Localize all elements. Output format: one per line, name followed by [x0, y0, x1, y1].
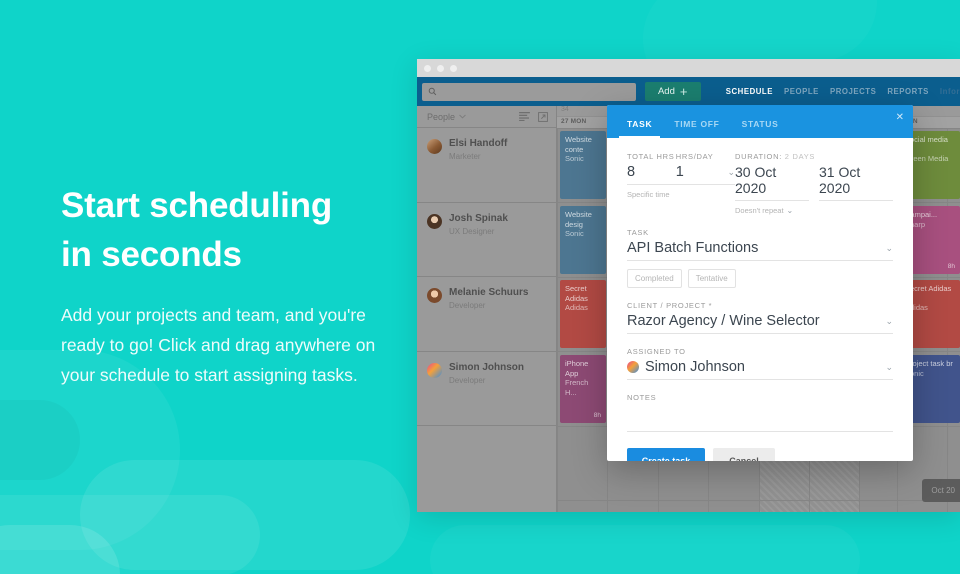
add-button-label: Add — [658, 86, 675, 97]
hours-per-day-label: HRS/DAY — [676, 152, 735, 161]
people-panel-tools — [519, 112, 548, 122]
end-date-field[interactable]: 31 Oct 2020 — [819, 164, 893, 201]
task-card[interactable]: iPhone App French H... 8h — [560, 355, 606, 423]
people-panel-header: People — [417, 106, 556, 128]
cancel-button[interactable]: Cancel — [713, 448, 775, 461]
duration-days-value: 2 DAYS — [785, 152, 815, 161]
chevron-down-icon: ⌄ — [787, 207, 794, 215]
search-input[interactable] — [422, 83, 636, 101]
window-titlebar — [417, 59, 960, 77]
list-item-empty[interactable] — [417, 426, 556, 500]
hours-duration-row: TOTAL HRS 8 Specific time HRS/DAY 1 ⌄ DU… — [627, 152, 893, 215]
assigned-to-field[interactable]: ASSIGNED TO Simon Johnson ⌄ — [627, 347, 893, 380]
nav-item-projects[interactable]: PROJECTS — [830, 87, 876, 96]
modal-tabs: TASK TIME OFF STATUS — [607, 105, 913, 138]
page-title-line-1: Start scheduling — [61, 186, 332, 225]
hours-per-day-field[interactable]: HRS/DAY 1 ⌄ — [676, 152, 735, 185]
repeat-label: Doesn't repeat — [735, 206, 784, 215]
minimize-window-dot[interactable] — [437, 65, 444, 72]
task-value[interactable]: API Batch Functions ⌄ — [627, 240, 893, 261]
assigned-to-text: Simon Johnson — [645, 359, 745, 375]
task-card-hours: 8h — [948, 262, 955, 272]
specific-time-link[interactable]: Specific time — [627, 190, 676, 199]
avatar — [427, 288, 442, 303]
person-role: Developer — [449, 301, 528, 311]
client-project-value[interactable]: Razor Agency / Wine Selector ⌄ — [627, 313, 893, 334]
month-jump-button[interactable]: Oct 20 — [922, 479, 960, 502]
avatar — [427, 363, 442, 378]
list-item[interactable]: Melanie Schuurs Developer — [417, 277, 556, 352]
task-card-client: Sonic — [565, 229, 601, 239]
task-card-client: French H... — [565, 378, 601, 397]
modal-actions: Create task Cancel — [627, 448, 893, 461]
page-title-line-2: in seconds — [61, 235, 242, 274]
total-hours-label: TOTAL HRS — [627, 152, 676, 161]
person-role: Marketer — [449, 152, 507, 162]
assigned-to-value[interactable]: Simon Johnson ⌄ — [627, 359, 893, 380]
list-item[interactable]: Josh Spinak UX Designer — [417, 203, 556, 278]
date-range: 30 Oct 2020 31 Oct 2020 — [735, 164, 893, 201]
avatar — [627, 361, 639, 373]
chevron-down-icon — [459, 114, 466, 119]
task-field[interactable]: TASK API Batch Functions ⌄ Completed Ten… — [627, 228, 893, 288]
task-card[interactable]: Website desig Sonic — [560, 206, 606, 274]
nav-item-people[interactable]: PEOPLE — [784, 87, 819, 96]
tab-task[interactable]: TASK — [627, 119, 652, 138]
task-card-title: iPhone App — [565, 359, 601, 378]
list-item[interactable]: Simon Johnson Developer — [417, 352, 556, 427]
plus-icon: + — [680, 85, 688, 98]
page-subtitle: Add your projects and team, and you're r… — [61, 300, 391, 390]
duration-label: DURATION: 2 DAYS — [735, 152, 893, 161]
notes-field[interactable]: NOTES — [627, 393, 893, 432]
nav-item-reports[interactable]: REPORTS — [887, 87, 929, 96]
page-title: Start scheduling in seconds — [61, 181, 391, 279]
task-card[interactable]: Secret Adidas Adidas — [560, 280, 606, 348]
tab-status[interactable]: STATUS — [742, 119, 779, 138]
task-card-title: Secret Adidas — [565, 284, 601, 303]
person-name: Josh Spinak — [449, 213, 508, 225]
task-card-client: Sonic — [565, 154, 601, 164]
maximize-window-dot[interactable] — [450, 65, 457, 72]
start-date-field[interactable]: 30 Oct 2020 — [735, 164, 809, 201]
list-view-icon[interactable] — [519, 112, 530, 121]
search-icon — [428, 87, 437, 96]
modal-header: TASK TIME OFF STATUS ✕ — [607, 105, 913, 138]
people-filter-label: People — [427, 112, 455, 122]
specific-time-label: Specific time — [627, 190, 670, 199]
total-hours-text: 8 — [627, 164, 635, 180]
main-nav: SCHEDULE PEOPLE PROJECTS REPORTS Infor — [726, 87, 960, 96]
app-topbar: Add + SCHEDULE PEOPLE PROJECTS REPORTS I… — [417, 77, 960, 106]
task-name-text: API Batch Functions — [627, 240, 758, 256]
total-hours-field[interactable]: TOTAL HRS 8 Specific time — [627, 152, 676, 199]
chevron-down-icon: ⌄ — [727, 168, 735, 177]
close-window-dot[interactable] — [424, 65, 431, 72]
person-name: Simon Johnson — [449, 362, 524, 374]
hours-per-day-value[interactable]: 1 ⌄ — [676, 164, 735, 185]
task-card-hours: 8h — [594, 411, 601, 421]
notes-label: NOTES — [627, 393, 893, 402]
task-card[interactable]: Website conte Sonic — [560, 131, 606, 199]
people-filter[interactable]: People — [427, 112, 466, 122]
total-hours-value[interactable]: 8 — [627, 164, 676, 185]
close-icon[interactable]: ✕ — [896, 113, 904, 123]
chip-completed[interactable]: Completed — [627, 269, 682, 288]
external-link-icon[interactable] — [538, 112, 548, 122]
week-number: 34 — [561, 106, 569, 113]
window-controls[interactable] — [424, 65, 457, 72]
repeat-selector[interactable]: Doesn't repeat ⌄ — [735, 206, 893, 215]
chevron-down-icon: ⌄ — [885, 317, 893, 326]
task-label: TASK — [627, 228, 893, 237]
client-project-text: Razor Agency / Wine Selector — [627, 313, 820, 329]
avatar — [427, 139, 442, 154]
duration-label-text: DURATION: — [735, 152, 782, 161]
background-shape — [430, 525, 860, 574]
task-card-title: Website desig — [565, 210, 601, 229]
client-project-field[interactable]: CLIENT / PROJECT * Razor Agency / Wine S… — [627, 301, 893, 334]
notes-input[interactable] — [627, 405, 893, 432]
nav-item-information[interactable]: Infor — [940, 87, 960, 96]
client-project-label: CLIENT / PROJECT * — [627, 301, 893, 310]
avatar — [427, 214, 442, 229]
person-role: Developer — [449, 376, 524, 386]
chevron-down-icon: ⌄ — [885, 363, 893, 372]
task-status-chips: Completed Tentative — [627, 269, 893, 288]
task-card-title: Website conte — [565, 135, 601, 154]
nav-item-schedule[interactable]: SCHEDULE — [726, 87, 773, 96]
chevron-down-icon: ⌄ — [885, 244, 893, 253]
people-panel: People — [417, 106, 557, 512]
chip-tentative[interactable]: Tentative — [688, 269, 736, 288]
add-button[interactable]: Add + — [645, 82, 701, 101]
person-name: Elsi Handoff — [449, 138, 507, 150]
create-task-modal: TASK TIME OFF STATUS ✕ TOTAL HRS 8 Speci… — [607, 105, 913, 461]
person-role: UX Designer — [449, 227, 508, 237]
assigned-to-label: ASSIGNED TO — [627, 347, 893, 356]
modal-body: TOTAL HRS 8 Specific time HRS/DAY 1 ⌄ DU… — [607, 138, 913, 461]
day-label-mon: 27 MON — [561, 118, 586, 125]
tab-time-off[interactable]: TIME OFF — [674, 119, 719, 138]
task-card-client: Adidas — [565, 303, 601, 313]
person-name: Melanie Schuurs — [449, 287, 528, 299]
list-item[interactable]: Elsi Handoff Marketer — [417, 128, 556, 203]
create-task-button[interactable]: Create task — [627, 448, 705, 461]
duration-field: DURATION: 2 DAYS 30 Oct 2020 31 Oct 2020… — [735, 152, 893, 215]
hours-per-day-text: 1 — [676, 164, 684, 180]
marketing-copy: Start scheduling in seconds Add your pro… — [61, 181, 391, 390]
